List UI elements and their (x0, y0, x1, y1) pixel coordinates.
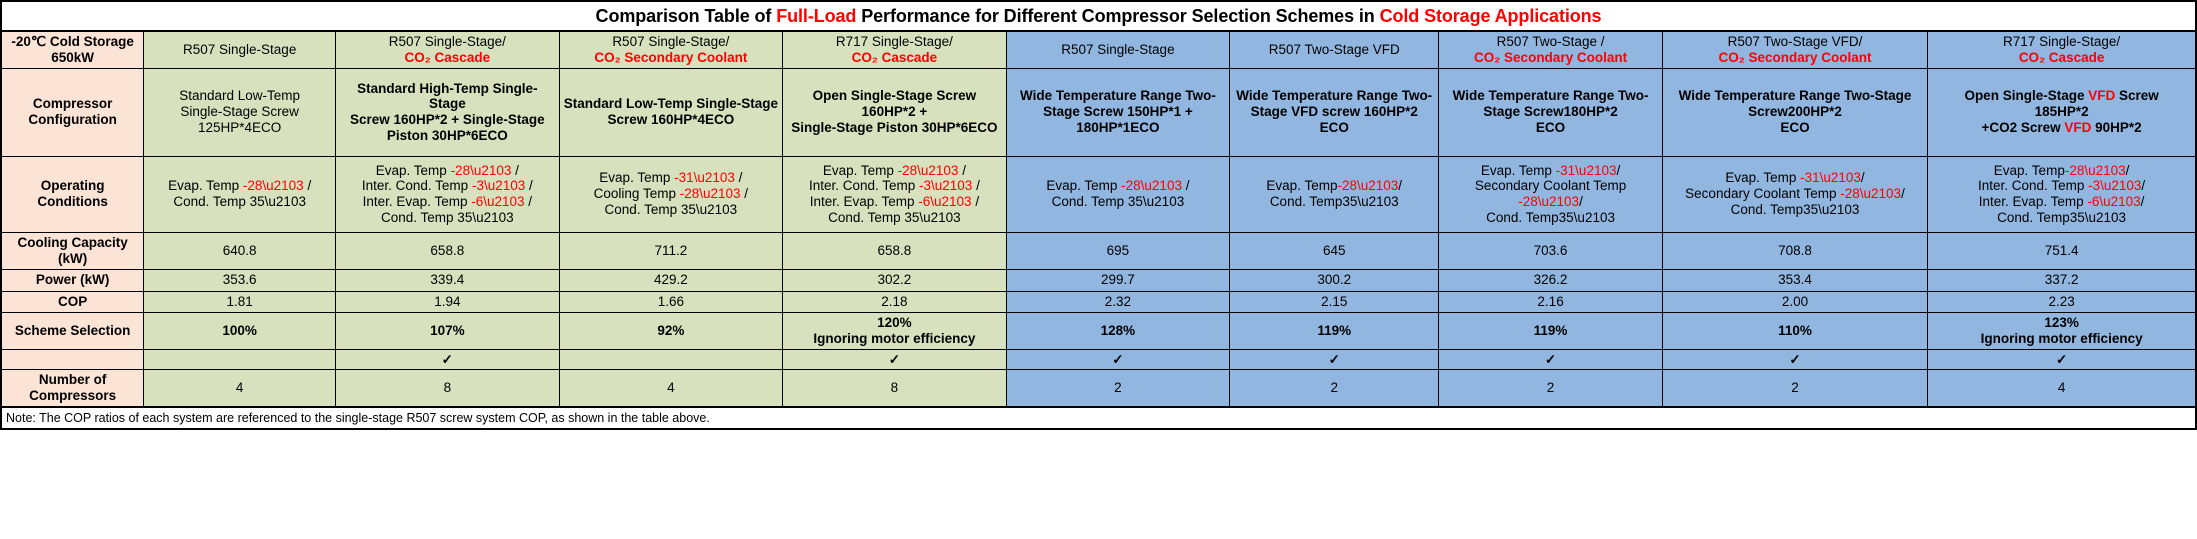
cell-numcomp-8: 4 (1928, 370, 2196, 407)
cell-scheme-3: 120% Ignoring motor efficiency (783, 312, 1007, 349)
row-label-conditions: Operating Conditions (1, 156, 144, 232)
cell-power-0: 353.6 (144, 269, 336, 291)
cell-conditions-0: Evap. Temp -28\u2103 /Cond. Temp 35\u210… (144, 156, 336, 232)
footer-note-text: Note: The COP ratios of each system are … (6, 411, 710, 425)
cell-scheme-0: 100% (144, 312, 336, 349)
corner-line-1: -20℃ Cold Storage (5, 34, 140, 50)
cell-config-3: Open Single-Stage Screw 160HP*2 + Single… (783, 68, 1007, 156)
cell-cop-7: 2.00 (1662, 291, 1927, 312)
row-cooling-capacity: Cooling Capacity (kW) 640.8 658.8 711.2 … (1, 232, 2196, 269)
cell-power-2: 429.2 (559, 269, 783, 291)
cell-cooling-2: 711.2 (559, 232, 783, 269)
column-header-sub-1: CO₂ Cascade (339, 50, 556, 66)
cell-numcomp-5: 2 (1230, 370, 1439, 407)
row-label-num-compressors: Number of Compressors (1, 370, 144, 407)
column-header-main-3: R717 Single-Stage/ (786, 34, 1003, 50)
row-label-scheme-selection: Scheme Selection (1, 312, 144, 349)
cell-scheme-8: 123% Ignoring motor efficiency (1928, 312, 2196, 349)
cell-config-6: Wide Temperature Range Two- Stage Screw1… (1439, 68, 1663, 156)
row-label-config: Compressor Configuration (1, 68, 144, 156)
cell-numcomp-6: 2 (1439, 370, 1663, 407)
cell-power-1: 339.4 (336, 269, 560, 291)
row-scheme-selection: Scheme Selection 100% 107% 92% 120% Igno… (1, 312, 2196, 349)
cell-check-4: ✓ (1006, 349, 1230, 370)
column-header-2: R507 Single-Stage/ CO₂ Secondary Coolant (559, 32, 783, 69)
cell-conditions-2: Evap. Temp -31\u2103 /Cooling Temp -28\u… (559, 156, 783, 232)
cell-power-6: 326.2 (1439, 269, 1663, 291)
cell-numcomp-7: 2 (1662, 370, 1927, 407)
column-header-sub-7: CO₂ Secondary Coolant (1666, 50, 1924, 66)
column-header-sub-2: CO₂ Secondary Coolant (563, 50, 780, 66)
cell-cop-3: 2.18 (783, 291, 1007, 312)
cell-scheme-1: 107% (336, 312, 560, 349)
cell-power-4: 299.7 (1006, 269, 1230, 291)
cell-scheme-5: 119% (1230, 312, 1439, 349)
row-number-of-compressors: Number of Compressors 4 8 4 8 2 2 2 2 4 (1, 370, 2196, 407)
cell-scheme-6: 119% (1439, 312, 1663, 349)
column-header-8: R717 Single-Stage/ CO₂ Cascade (1928, 32, 2196, 69)
cell-check-2 (559, 349, 783, 370)
cell-cooling-4: 695 (1006, 232, 1230, 269)
cell-conditions-3: Evap. Temp -28\u2103 /Inter. Cond. Temp … (783, 156, 1007, 232)
cell-cop-6: 2.16 (1439, 291, 1663, 312)
cell-cooling-6: 703.6 (1439, 232, 1663, 269)
cell-cooling-7: 708.8 (1662, 232, 1927, 269)
row-label-power: Power (kW) (1, 269, 144, 291)
cell-conditions-4: Evap. Temp -28\u2103 /Cond. Temp 35\u210… (1006, 156, 1230, 232)
column-header-main-6: R507 Two-Stage / (1442, 34, 1659, 50)
column-header-1: R507 Single-Stage/ CO₂ Cascade (336, 32, 560, 69)
cell-power-5: 300.2 (1230, 269, 1439, 291)
title-part-pre: Comparison Table of (596, 6, 777, 26)
column-header-main-5: R507 Two-Stage VFD (1233, 42, 1435, 58)
corner-cell: -20℃ Cold Storage 650kW (1, 32, 144, 69)
cell-scheme-4: 128% (1006, 312, 1230, 349)
column-header-5: R507 Two-Stage VFD (1230, 32, 1439, 69)
cell-config-0: Standard Low-Temp Single-Stage Screw 125… (144, 68, 336, 156)
cell-numcomp-4: 2 (1006, 370, 1230, 407)
cell-conditions-5: Evap. Temp-28\u2103/Cond. Temp35\u2103 (1230, 156, 1439, 232)
cell-check-8: ✓ (1928, 349, 2196, 370)
cell-cop-0: 1.81 (144, 291, 336, 312)
corner-line-2: 650kW (5, 50, 140, 66)
footer-note-bar: Note: The COP ratios of each system are … (0, 408, 2197, 430)
cell-check-7: ✓ (1662, 349, 1927, 370)
cell-check-0 (144, 349, 336, 370)
cell-power-3: 302.2 (783, 269, 1007, 291)
cell-check-3: ✓ (783, 349, 1007, 370)
cell-cop-2: 1.66 (559, 291, 783, 312)
column-header-sub-6: CO₂ Secondary Coolant (1442, 50, 1659, 66)
table-header-row: -20℃ Cold Storage 650kW R507 Single-Stag… (1, 32, 2196, 69)
cell-cooling-0: 640.8 (144, 232, 336, 269)
title-part-mid: Performance for Different Compressor Sel… (856, 6, 1379, 26)
cell-check-1: ✓ (336, 349, 560, 370)
column-header-main-0: R507 Single-Stage (147, 42, 332, 58)
column-header-sub-3: CO₂ Cascade (786, 50, 1003, 66)
cell-config-4: Wide Temperature Range Two- Stage Screw … (1006, 68, 1230, 156)
row-label-checkmarks (1, 349, 144, 370)
cell-cop-1: 1.94 (336, 291, 560, 312)
cell-numcomp-2: 4 (559, 370, 783, 407)
title-highlight-full-load: Full-Load (776, 6, 856, 26)
column-header-main-8: R717 Single-Stage/ (1931, 34, 2192, 50)
row-selected-checkmarks: ✓ ✓ ✓ ✓ ✓ ✓ ✓ (1, 349, 2196, 370)
cell-config-5: Wide Temperature Range Two- Stage VFD sc… (1230, 68, 1439, 156)
cell-cooling-3: 658.8 (783, 232, 1007, 269)
cell-conditions-1: Evap. Temp -28\u2103 /Inter. Cond. Temp … (336, 156, 560, 232)
row-label-cop: COP (1, 291, 144, 312)
column-header-4: R507 Single-Stage (1006, 32, 1230, 69)
cell-config-2: Standard Low-Temp Single-Stage Screw 160… (559, 68, 783, 156)
column-header-main-4: R507 Single-Stage (1010, 42, 1227, 58)
title-bar: Comparison Table of Full-Load Performanc… (0, 0, 2197, 31)
cell-config-1: Standard High-Temp Single-Stage Screw 16… (336, 68, 560, 156)
cell-conditions-8: Evap. Temp-28\u2103/Inter. Cond. Temp -3… (1928, 156, 2196, 232)
cell-cooling-1: 658.8 (336, 232, 560, 269)
comparison-table-page: Comparison Table of Full-Load Performanc… (0, 0, 2197, 539)
cell-scheme-7: 110% (1662, 312, 1927, 349)
cell-config-8: Open Single-Stage VFD Screw185HP*2+CO2 S… (1928, 68, 2196, 156)
row-label-cooling-capacity: Cooling Capacity (kW) (1, 232, 144, 269)
cell-numcomp-3: 8 (783, 370, 1007, 407)
title-highlight-cold-storage: Cold Storage Applications (1380, 6, 1602, 26)
column-header-main-2: R507 Single-Stage/ (563, 34, 780, 50)
cell-check-6: ✓ (1439, 349, 1663, 370)
comparison-table: -20℃ Cold Storage 650kW R507 Single-Stag… (0, 31, 2197, 408)
cell-numcomp-0: 4 (144, 370, 336, 407)
cell-cop-4: 2.32 (1006, 291, 1230, 312)
column-header-6: R507 Two-Stage / CO₂ Secondary Coolant (1439, 32, 1663, 69)
row-cop: COP 1.81 1.94 1.66 2.18 2.32 2.15 2.16 2… (1, 291, 2196, 312)
row-power: Power (kW) 353.6 339.4 429.2 302.2 299.7… (1, 269, 2196, 291)
row-compressor-configuration: Compressor Configuration Standard Low-Te… (1, 68, 2196, 156)
cell-config-7: Wide Temperature Range Two-Stage Screw20… (1662, 68, 1927, 156)
column-header-main-1: R507 Single-Stage/ (339, 34, 556, 50)
row-operating-conditions: Operating Conditions Evap. Temp -28\u210… (1, 156, 2196, 232)
cell-power-8: 337.2 (1928, 269, 2196, 291)
cell-cop-5: 2.15 (1230, 291, 1439, 312)
column-header-sub-8: CO₂ Cascade (1931, 50, 2192, 66)
cell-scheme-2: 92% (559, 312, 783, 349)
page-title: Comparison Table of Full-Load Performanc… (596, 6, 1602, 27)
cell-cooling-8: 751.4 (1928, 232, 2196, 269)
cell-conditions-7: Evap. Temp -31\u2103/Secondary Coolant T… (1662, 156, 1927, 232)
cell-power-7: 353.4 (1662, 269, 1927, 291)
column-header-3: R717 Single-Stage/ CO₂ Cascade (783, 32, 1007, 69)
column-header-0: R507 Single-Stage (144, 32, 336, 69)
cell-conditions-6: Evap. Temp -31\u2103/Secondary Coolant T… (1439, 156, 1663, 232)
cell-numcomp-1: 8 (336, 370, 560, 407)
column-header-main-7: R507 Two-Stage VFD/ (1666, 34, 1924, 50)
column-header-7: R507 Two-Stage VFD/ CO₂ Secondary Coolan… (1662, 32, 1927, 69)
cell-check-5: ✓ (1230, 349, 1439, 370)
cell-cop-8: 2.23 (1928, 291, 2196, 312)
cell-cooling-5: 645 (1230, 232, 1439, 269)
